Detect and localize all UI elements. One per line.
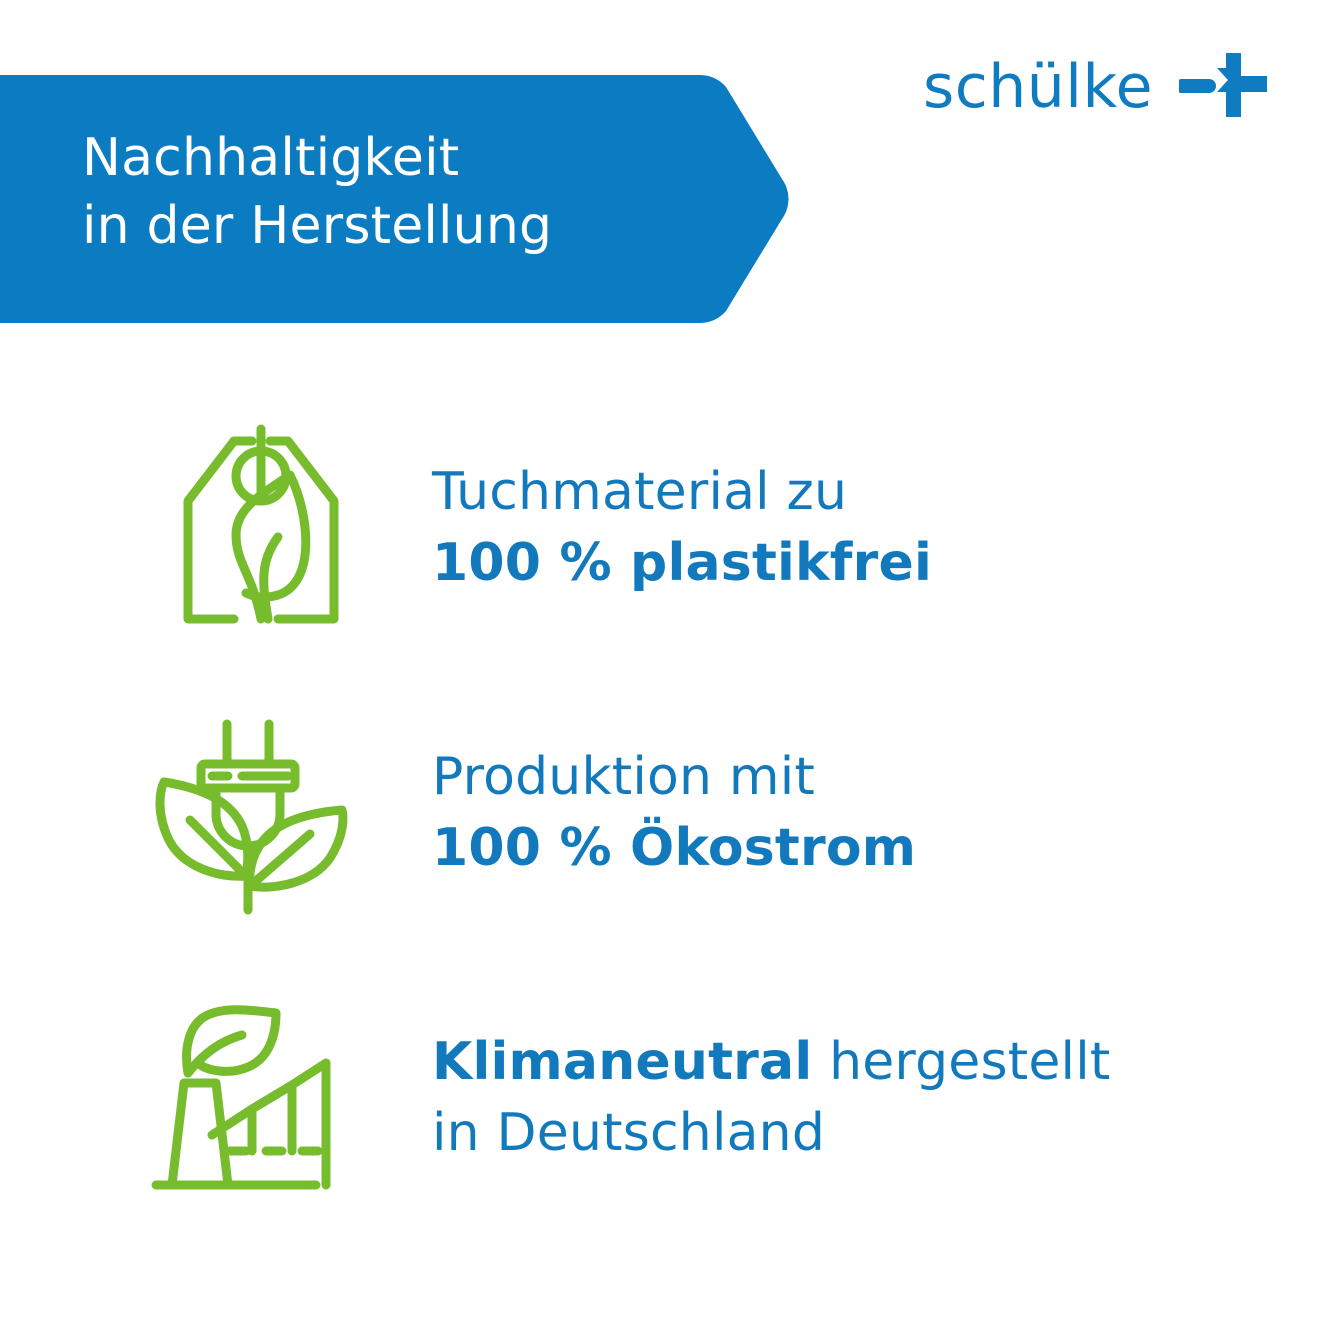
feature-line-1: Klimaneutral hergestellt (432, 1027, 1110, 1097)
feature-line-2: 100 % plastikfrei (432, 528, 932, 598)
feature-line-2: in Deutschland (432, 1098, 1110, 1168)
banner-title: Nachhaltigkeit in der Herstellung (82, 125, 682, 260)
feature-line-1-emphasis: Klimaneutral (432, 1032, 812, 1092)
factory-with-leaf-smoke-icon (140, 993, 370, 1203)
banner: Nachhaltigkeit in der Herstellung (0, 75, 790, 323)
eco-price-tag-leaf-icon (140, 423, 370, 633)
feature-text-oekostrom: Produktion mit 100 % Ökostrom (432, 742, 916, 882)
feature-list: Tuchmaterial zu 100 % plastikfrei (0, 385, 1333, 1240)
dash-plus-logo-mark-icon (1179, 52, 1271, 122)
feature-line-1: Tuchmaterial zu (432, 457, 932, 527)
infographic-page: schülke Nachhaltigkeit in der Herstellun… (0, 0, 1333, 1333)
feature-line-2: 100 % Ökostrom (432, 813, 916, 883)
feature-row-oekostrom: Produktion mit 100 % Ökostrom (0, 670, 1333, 955)
brand-logo: schülke (923, 52, 1271, 122)
feature-line-1-rest: hergestellt (812, 1032, 1110, 1092)
feature-text-plastikfrei: Tuchmaterial zu 100 % plastikfrei (432, 457, 932, 597)
feature-row-klimaneutral: Klimaneutral hergestellt in Deutschland (0, 955, 1333, 1240)
feature-text-klimaneutral: Klimaneutral hergestellt in Deutschland (432, 1027, 1110, 1167)
brand-wordmark: schülke (923, 57, 1153, 117)
plug-with-leaves-icon (140, 708, 370, 918)
feature-line-1: Produktion mit (432, 742, 916, 812)
feature-row-plastikfrei: Tuchmaterial zu 100 % plastikfrei (0, 385, 1333, 670)
